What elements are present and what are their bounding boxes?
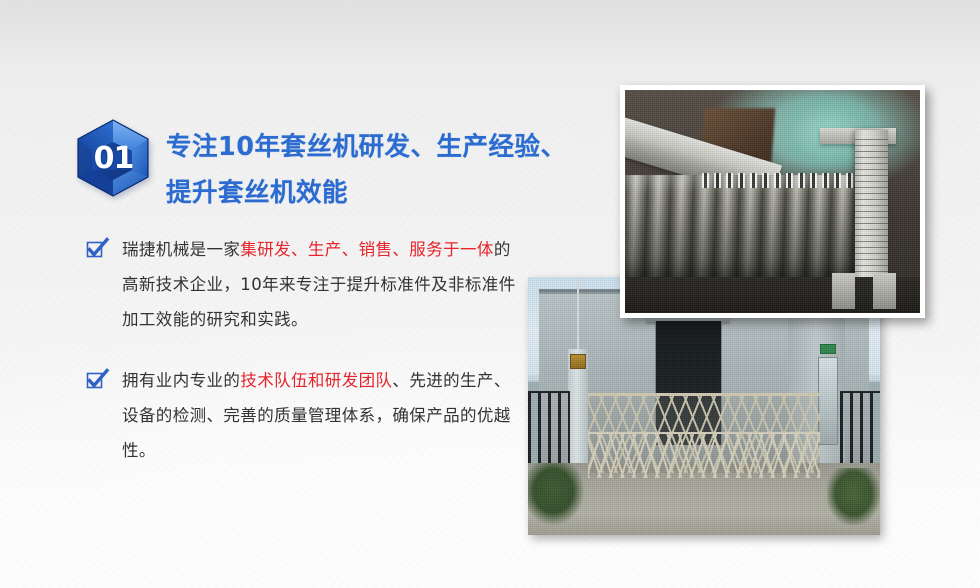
checkbox-checked-icon [86, 238, 108, 260]
bullet-text-1: 瑞捷机械是一家集研发、生产、销售、服务于一体的高新技术企业，10年来专注于提升标… [122, 232, 520, 337]
feature-bullet-list: 瑞捷机械是一家集研发、生产、销售、服务于一体的高新技术企业，10年来专注于提升标… [86, 232, 536, 494]
hexagon-gem-icon: 01 [74, 118, 152, 198]
photo-grain-overlay [625, 90, 920, 313]
checkbox-checked-icon [86, 369, 108, 391]
threaded-pipe-photo [620, 85, 925, 318]
title-block: 专注10年套丝机研发、生产经验、 提升套丝机效能 [166, 118, 567, 216]
page-title-line-2: 提升套丝机效能 [166, 170, 567, 216]
list-item: 拥有业内专业的技术队伍和研发团队、先进的生产、设备的检测、完善的质量管理体系，确… [86, 363, 536, 468]
badge-number: 01 [74, 118, 152, 198]
bullet-2-segment-1: 拥有业内专业的 [122, 371, 240, 390]
page-title-line-1: 专注10年套丝机研发、生产经验、 [166, 124, 567, 170]
bullet-text-2: 拥有业内专业的技术队伍和研发团队、先进的生产、设备的检测、完善的质量管理体系，确… [122, 363, 520, 468]
bullet-1-segment-1: 瑞捷机械是一家 [122, 240, 240, 259]
list-item: 瑞捷机械是一家集研发、生产、销售、服务于一体的高新技术企业，10年来专注于提升标… [86, 232, 536, 337]
bullet-1-highlight: 集研发、生产、销售、服务于一体 [240, 240, 494, 259]
promo-banner: 01 专注10年套丝机研发、生产经验、 提升套丝机效能 瑞捷机械是一家集研发、生… [0, 0, 980, 588]
content-column: 01 专注10年套丝机研发、生产经验、 提升套丝机效能 瑞捷机械是一家集研发、生… [0, 0, 560, 588]
bullet-2-highlight: 技术队伍和研发团队 [240, 371, 392, 390]
heading-group: 01 专注10年套丝机研发、生产经验、 提升套丝机效能 [74, 118, 544, 216]
